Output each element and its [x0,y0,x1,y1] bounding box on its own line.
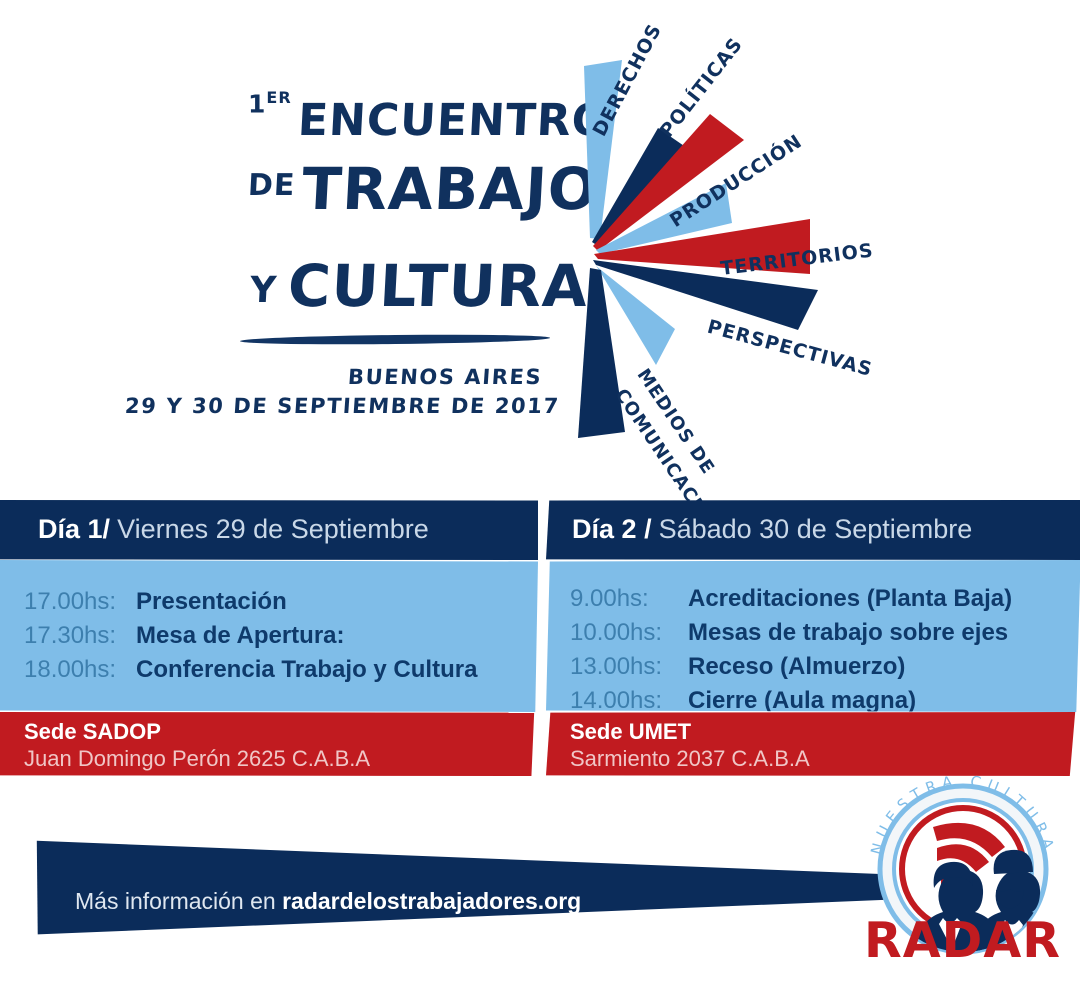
poster: 1ER ENCUENTRO DE TRABAJO Y CULTURA BUENO… [0,0,1080,982]
day-1-date: Viernes 29 de Septiembre [117,514,429,544]
day-1-schedule-rows: 17.00hs: Presentación 17.30hs: Mesa de A… [24,585,477,687]
venue-address: Juan Domingo Perón 2625 C.A.B.A [24,746,370,773]
title-line-cultura: CULTURA [286,252,590,320]
schedule-row: 10.00hs: Mesas de trabajo sobre ejes [570,616,1012,650]
schedule-event: Acreditaciones (Planta Baja) [688,582,1012,616]
day-1-header: Día 1/Viernes 29 de Septiembre [0,500,538,560]
day-2-schedule: 9.00hs: Acreditaciones (Planta Baja) 10.… [546,560,1080,712]
day-1-venue-text: Sede SADOP Juan Domingo Perón 2625 C.A.B… [24,719,370,773]
schedule-row: 13.00hs: Receso (Almuerzo) [570,650,1012,684]
day-1-label: Día 1 [38,514,103,544]
day-1-slash: / [103,514,111,544]
venue-name: Sede SADOP [24,719,370,746]
schedule-event: Mesas de trabajo sobre ejes [688,616,1008,650]
schedule-row: 17.00hs: Presentación [24,585,477,619]
title-city: BUENOS AIRES [347,365,543,389]
day-2-schedule-rows: 9.00hs: Acreditaciones (Planta Baja) 10.… [570,582,1012,718]
info-banner: Más información en radardelostrabajadore… [0,836,920,956]
schedule-event: Presentación [136,585,287,619]
schedule-event: Conferencia Trabajo y Cultura [136,653,477,687]
schedule-row: 9.00hs: Acreditaciones (Planta Baja) [570,582,1012,616]
schedule-time: 13.00hs: [570,650,688,684]
radar-wordmark: RADAR [855,912,1070,969]
day-2-venue-text: Sede UMET Sarmiento 2037 C.A.B.A [570,719,810,773]
title-dates: 29 Y 30 DE SEPTIEMBRE DE 2017 [124,394,560,418]
day-1-venue: Sede SADOP Juan Domingo Perón 2625 C.A.B… [0,712,538,776]
day-2-label: Día 2 [572,514,637,544]
schedule-row: 17.30hs: Mesa de Apertura: [24,619,477,653]
day-2-header-text: Día 2 /Sábado 30 de Septiembre [572,514,972,545]
venue-name: Sede UMET [570,719,810,746]
burst-graphic: DERECHOS POLÍTICAS PRODUCCIÓN TERRITORIO… [560,20,1060,490]
schedule-time: 17.00hs: [24,585,136,619]
day-1-header-text: Día 1/Viernes 29 de Septiembre [38,514,429,545]
title-word-de: DE [247,168,296,203]
day-1-panel: Día 1/Viernes 29 de Septiembre 17.00hs: … [0,500,538,776]
day-2-date: Sábado 30 de Septiembre [659,514,973,544]
day-2-header: Día 2 /Sábado 30 de Septiembre [546,500,1080,560]
schedule-time: 18.00hs: [24,653,136,687]
venue-address: Sarmiento 2037 C.A.B.A [570,746,810,773]
info-banner-text: Más información en radardelostrabajadore… [75,888,581,915]
title-line-trabajo: TRABAJO [300,155,600,223]
schedule-time: 9.00hs: [570,582,688,616]
day-2-slash: / [644,514,652,544]
schedule-event: Mesa de Apertura: [136,619,345,653]
info-banner-prefix: Más información en [75,888,282,914]
schedule-time: 17.30hs: [24,619,136,653]
title-block: 1ER ENCUENTRO DE TRABAJO Y CULTURA BUENO… [230,40,560,440]
radar-logo: NUESTRA CULTURA [855,772,1070,972]
day-2-panel: Día 2 /Sábado 30 de Septiembre 9.00hs: A… [546,500,1080,776]
day-2-venue: Sede UMET Sarmiento 2037 C.A.B.A [546,712,1080,776]
schedule-time: 10.00hs: [570,616,688,650]
title-word-y: Y [249,270,278,311]
title-ordinal: 1ER [248,88,292,118]
title-underline-rule [240,333,550,345]
day-1-schedule: 17.00hs: Presentación 17.30hs: Mesa de A… [0,560,538,712]
website-link[interactable]: radardelostrabajadores.org [282,888,581,914]
schedule-row: 18.00hs: Conferencia Trabajo y Cultura [24,653,477,687]
schedule-event: Receso (Almuerzo) [688,650,905,684]
